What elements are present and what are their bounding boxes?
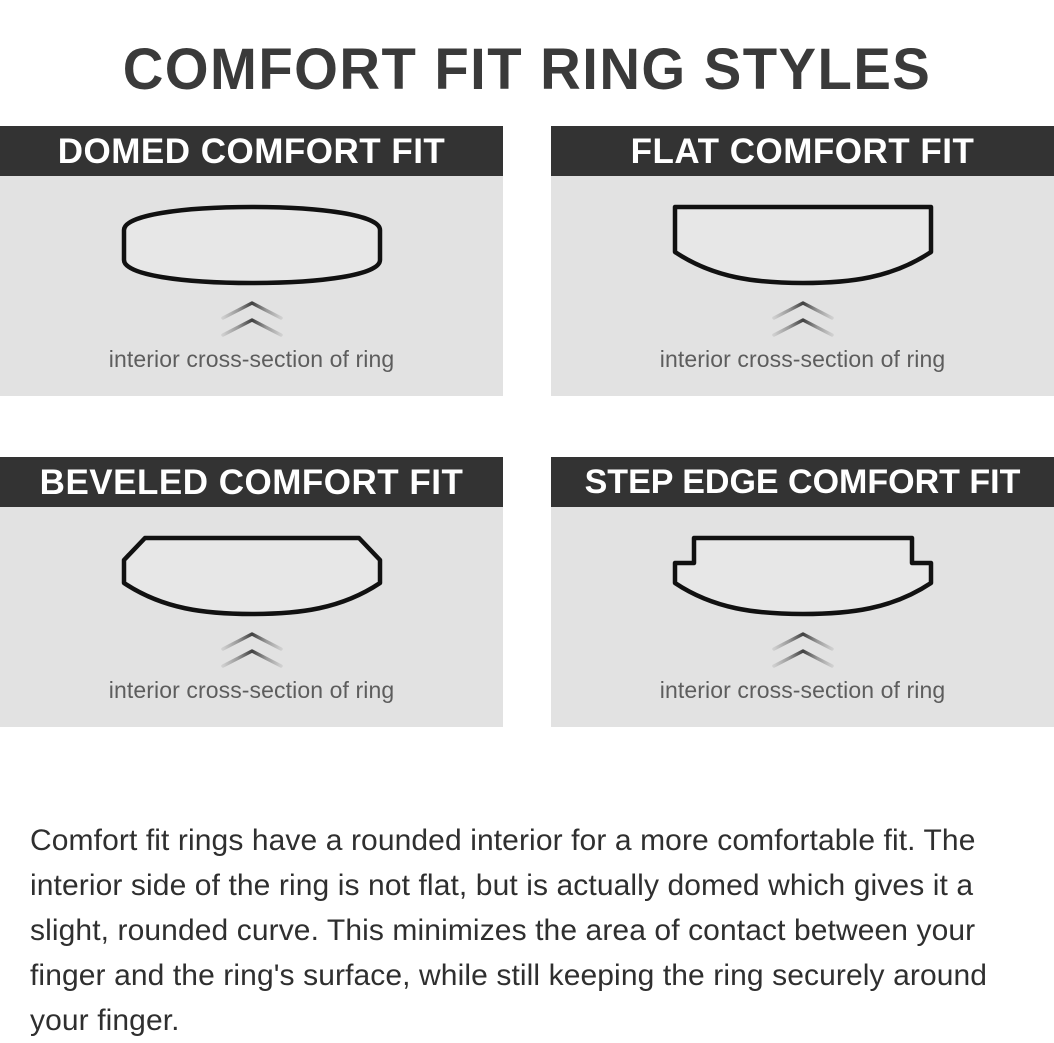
panel-flat-comfort-fit: FLAT COMFORT FIT	[551, 126, 1054, 396]
panel-header-flat: FLAT COMFORT FIT	[551, 126, 1054, 176]
beveled-cross-section-diagram	[0, 533, 503, 625]
caption-flat: interior cross-section of ring	[551, 346, 1054, 373]
page-title: COMFORT FIT RING STYLES	[16, 39, 1038, 101]
panel-step-edge-comfort-fit: STEP EDGE COMFORT FIT	[551, 457, 1054, 727]
panel-header-label-step-edge: STEP EDGE COMFORT FIT	[585, 465, 1021, 499]
caption-domed: interior cross-section of ring	[0, 346, 503, 373]
caption-step-edge: interior cross-section of ring	[551, 677, 1054, 704]
panel-body-flat: interior cross-section of ring	[551, 176, 1054, 396]
description-paragraph: Comfort fit rings have a rounded interio…	[30, 818, 1030, 1043]
step-edge-cross-section-diagram	[551, 533, 1054, 625]
flat-cross-section-diagram	[551, 202, 1054, 294]
double-chevron-up-icon-flat	[551, 300, 1054, 340]
ring-style-panel-grid: DOMED COMFORT FIT	[0, 126, 1054, 727]
panel-header-label-flat: FLAT COMFORT FIT	[631, 134, 975, 169]
panel-beveled-comfort-fit: BEVELED COMFORT FIT	[0, 457, 503, 727]
panel-body-beveled: interior cross-section of ring	[0, 507, 503, 727]
double-chevron-up-icon-step-edge	[551, 631, 1054, 671]
panel-domed-comfort-fit: DOMED COMFORT FIT	[0, 126, 503, 396]
panel-header-domed: DOMED COMFORT FIT	[0, 126, 503, 176]
caption-beveled: interior cross-section of ring	[0, 677, 503, 704]
panel-header-beveled: BEVELED COMFORT FIT	[0, 457, 503, 507]
double-chevron-up-icon-beveled	[0, 631, 503, 671]
panel-body-step-edge: interior cross-section of ring	[551, 507, 1054, 727]
domed-cross-section-diagram	[0, 202, 503, 294]
panel-body-domed: interior cross-section of ring	[0, 176, 503, 396]
panel-header-label-beveled: BEVELED COMFORT FIT	[40, 465, 464, 500]
panel-header-step-edge: STEP EDGE COMFORT FIT	[551, 457, 1054, 507]
double-chevron-up-icon-domed	[0, 300, 503, 340]
panel-header-label-domed: DOMED COMFORT FIT	[58, 134, 446, 169]
